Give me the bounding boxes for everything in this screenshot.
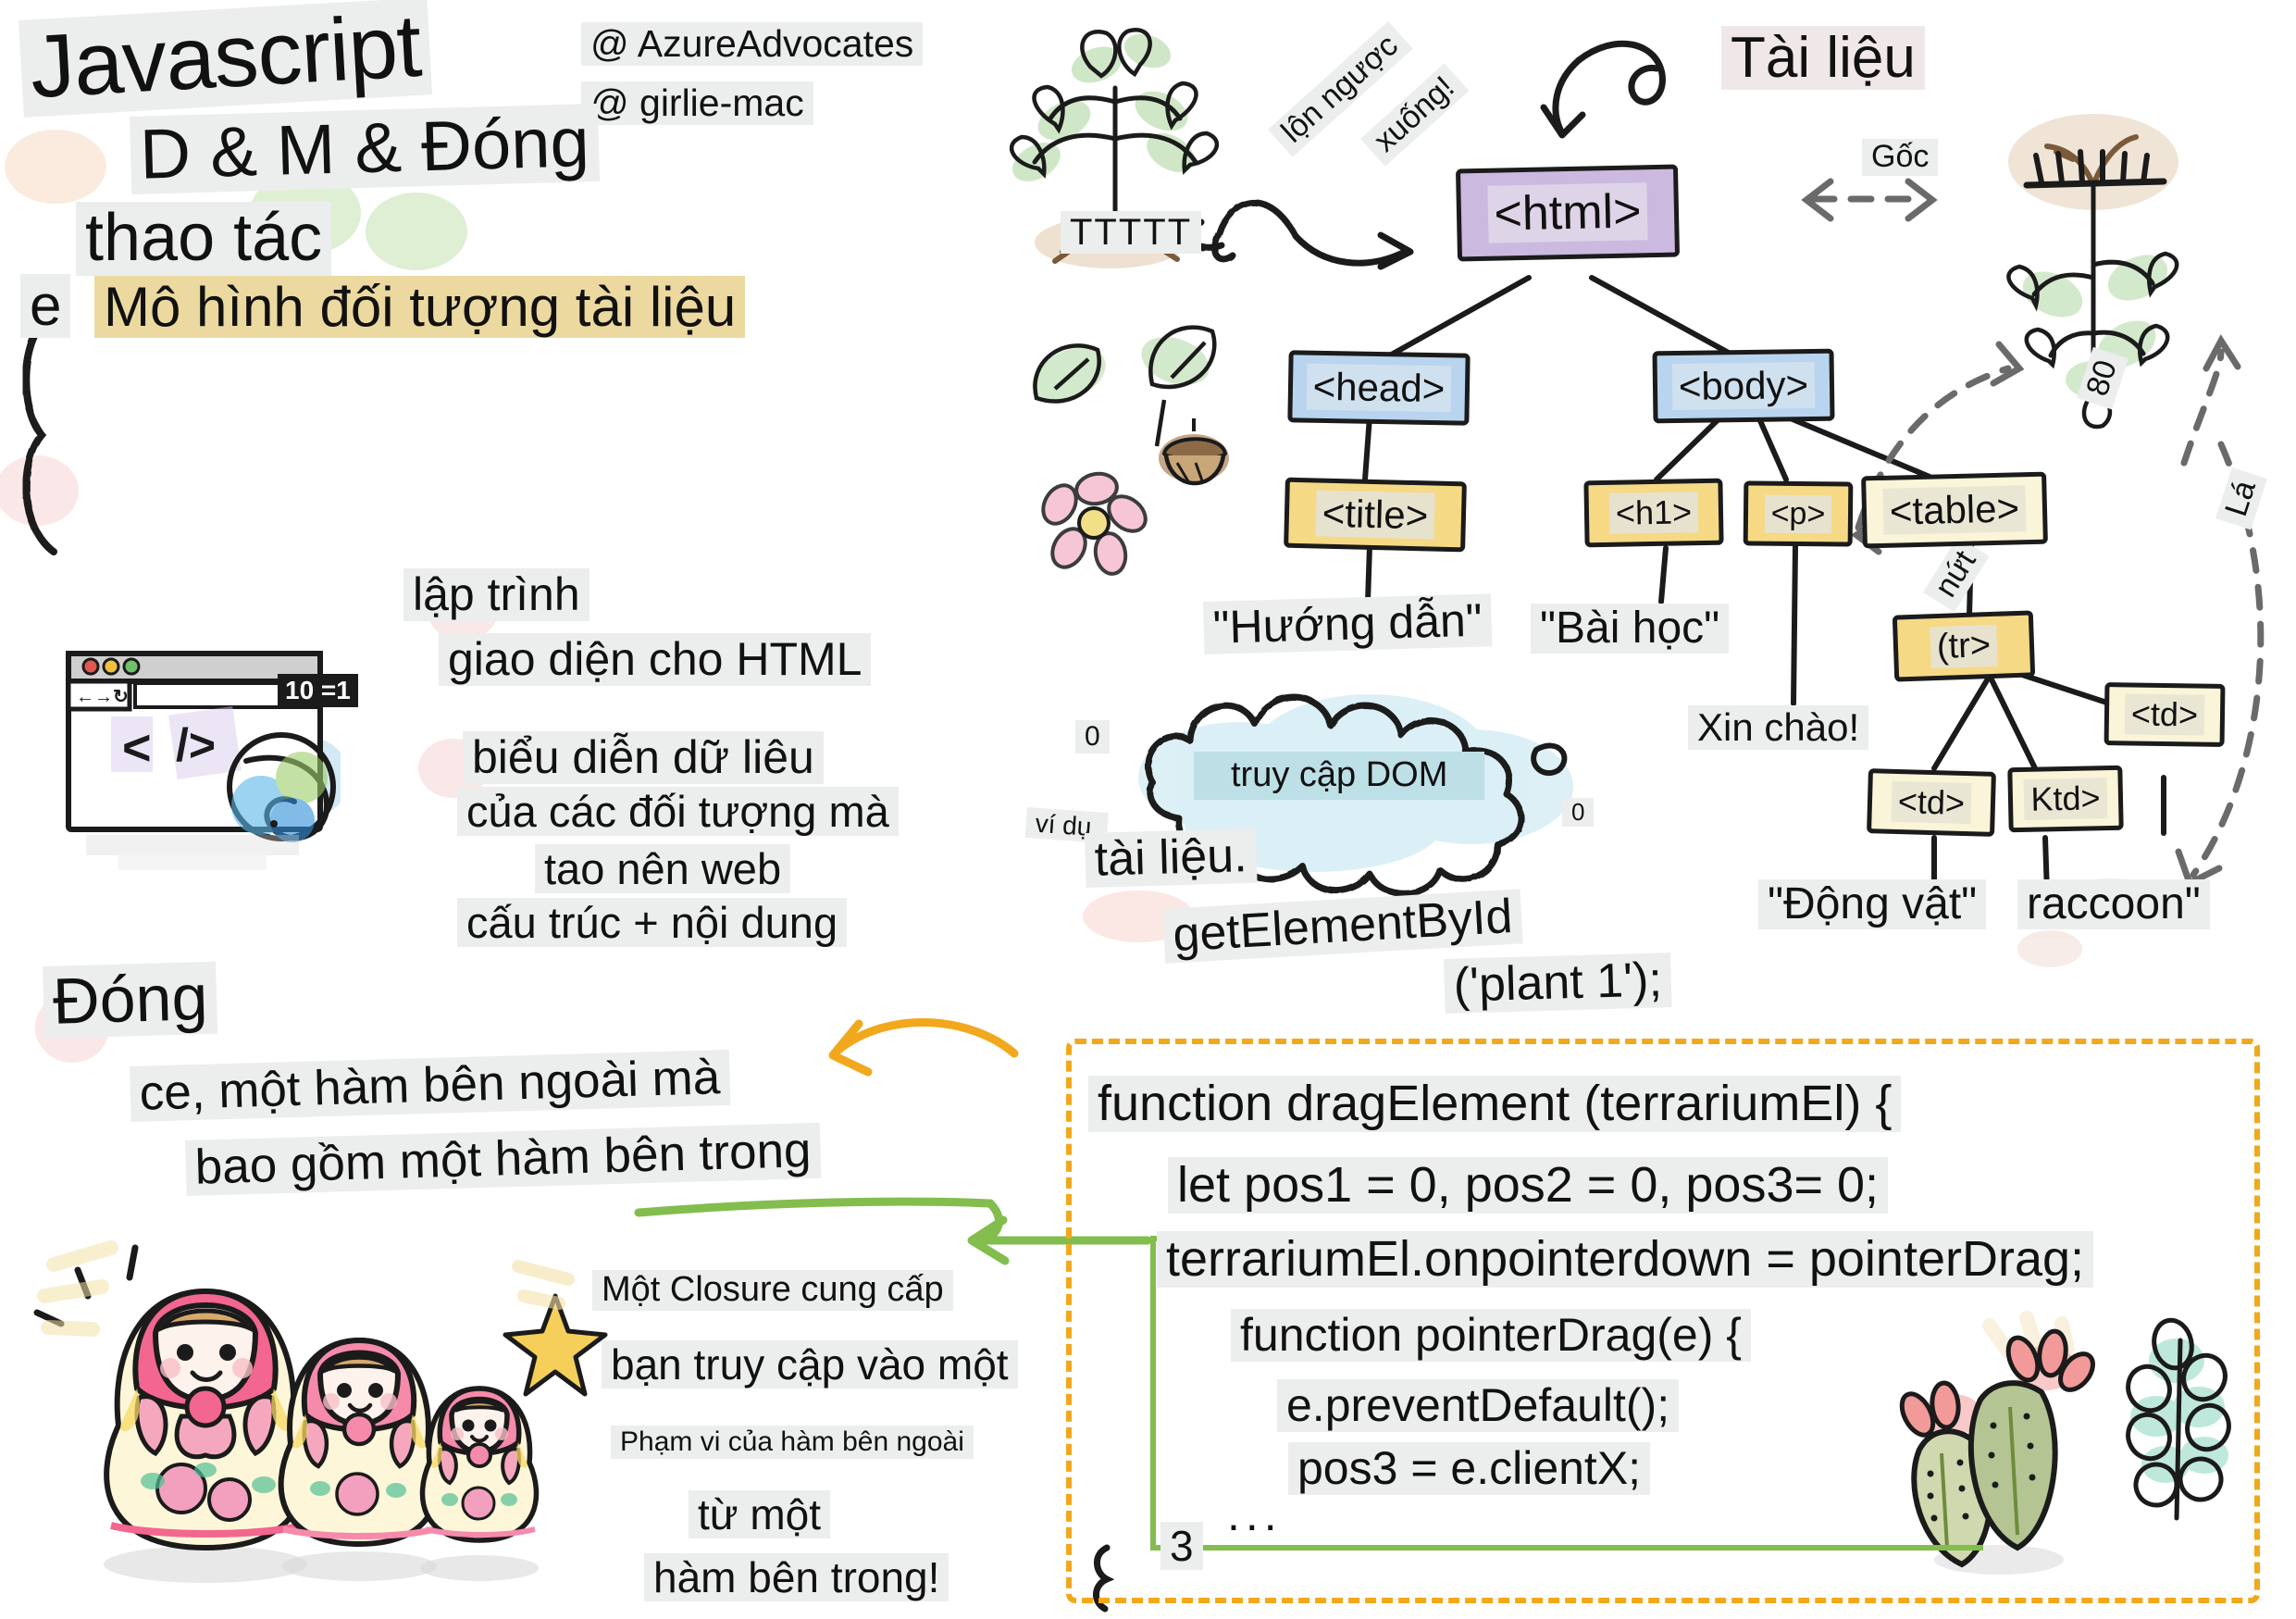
cloud-label-truy-cap-dom: truy cập DOM: [1194, 752, 1484, 800]
svg-text:←→↻: ←→↻: [76, 687, 129, 707]
svg-text:<: <: [122, 720, 152, 776]
subtitle-dm-dong: D & M & Đóng: [130, 104, 600, 194]
note-lap-trinh: lập trình: [403, 568, 590, 621]
closure-note-3: Phạm vi của hàm bên ngoài: [611, 1426, 974, 1459]
code-line-3: terrariumEl.onpointerdown = pointerDrag;: [1157, 1231, 2093, 1288]
code-plant-arg: ('plant 1');: [1444, 953, 1672, 1013]
label-la: Lá: [2215, 467, 2267, 529]
zero-marker-left: 0: [1075, 720, 1110, 753]
note-tao-nen-web: tao nên web: [535, 844, 790, 893]
dom-node-head[interactable]: <head>: [1287, 350, 1470, 425]
code-line-6: pos3 = e.clientX;: [1288, 1442, 1650, 1495]
closure-note-2: bạn truy cập vào một: [602, 1340, 1018, 1389]
text-node-bai-hoc: "Bài học": [1531, 604, 1729, 654]
label-goc: Gốc: [1862, 139, 1938, 176]
code-close-inner: 3: [1160, 1522, 1203, 1570]
note-cau-truc: cấu trúc + nội dung: [457, 898, 847, 947]
dom-diagram-heading: Tài liệu: [1721, 26, 1925, 90]
url-badge-text: 10 =1: [278, 674, 358, 707]
code-tai-lieu: tài liệu.: [1085, 828, 1257, 888]
browser-url-badge: 10 =1: [278, 674, 358, 707]
dom-node-td-right[interactable]: <td>: [2104, 682, 2226, 747]
svg-text:/>: />: [176, 719, 216, 771]
closure-note-1: Một Closure cung cấp: [592, 1270, 953, 1311]
handle-azureadvocates: @ AzureAdvocates: [581, 22, 923, 66]
note-bieu-dien: biểu diễn dữ liêu: [463, 731, 824, 784]
dom-node-html[interactable]: <html>: [1456, 164, 1680, 261]
page-title: Javascript: [19, 0, 432, 118]
code-line-5: e.preventDefault();: [1277, 1379, 1679, 1432]
closure-title-dong: Đóng: [43, 962, 217, 1039]
dom-node-h1[interactable]: <h1>: [1583, 479, 1723, 548]
handle-girlie-mac: @ girlie-mac: [581, 81, 813, 125]
dom-node-p[interactable]: <p>: [1744, 480, 1854, 546]
text-node-raccoon: raccoon": [2017, 879, 2210, 929]
closure-line-1: ce, một hàm bên ngoài mà: [130, 1050, 730, 1122]
dom-node-tr[interactable]: (tr>: [1893, 610, 2035, 681]
subtitle-thao-tac: thao tác: [76, 202, 331, 276]
note-giao-dien: giao diện cho HTML: [439, 633, 871, 686]
plant-label-ttttt: TTTTT: [1061, 211, 1201, 254]
code-getelementbyid: getElementById: [1162, 889, 1523, 963]
closure-note-5: hàm bên trong!: [644, 1553, 949, 1601]
text-node-xin-chao: Xin chào!: [1688, 705, 1868, 750]
text-node-huong-dan: "Hướng dẫn": [1203, 593, 1492, 654]
code-line-4: function pointerDrag(e) {: [1231, 1309, 1751, 1362]
dom-node-title[interactable]: <title>: [1284, 478, 1467, 553]
text-node-dong-vat: "Động vật": [1758, 879, 1986, 929]
note-cua-cac: của các đối tượng mà: [457, 787, 899, 836]
letter-e: e: [20, 274, 70, 338]
highlight-dom-definition: Mô hình đối tượng tài liệu: [94, 276, 745, 338]
dom-node-td-middle[interactable]: Ktd>: [2007, 766, 2123, 833]
code-ellipsis: ...: [1218, 1488, 1292, 1541]
dom-node-table[interactable]: <table>: [1861, 472, 2048, 549]
closure-line-2: bao gồm một hàm bên trong: [185, 1123, 821, 1196]
zero-marker-right: 0: [1562, 798, 1594, 827]
dom-node-body[interactable]: <body>: [1652, 349, 1834, 424]
label-nut: nứt: [1923, 537, 1989, 612]
label-node-count-80: 80: [2077, 347, 2128, 409]
dom-node-td-left[interactable]: <td>: [1867, 768, 1996, 837]
code-line-1: function dragElement (terrariumEl) {: [1088, 1076, 1901, 1132]
code-line-2: let pos1 = 0, pos2 = 0, pos3= 0;: [1168, 1157, 1888, 1214]
title-javascript: Javascript: [19, 0, 432, 118]
closure-note-4: từ một: [689, 1490, 830, 1538]
